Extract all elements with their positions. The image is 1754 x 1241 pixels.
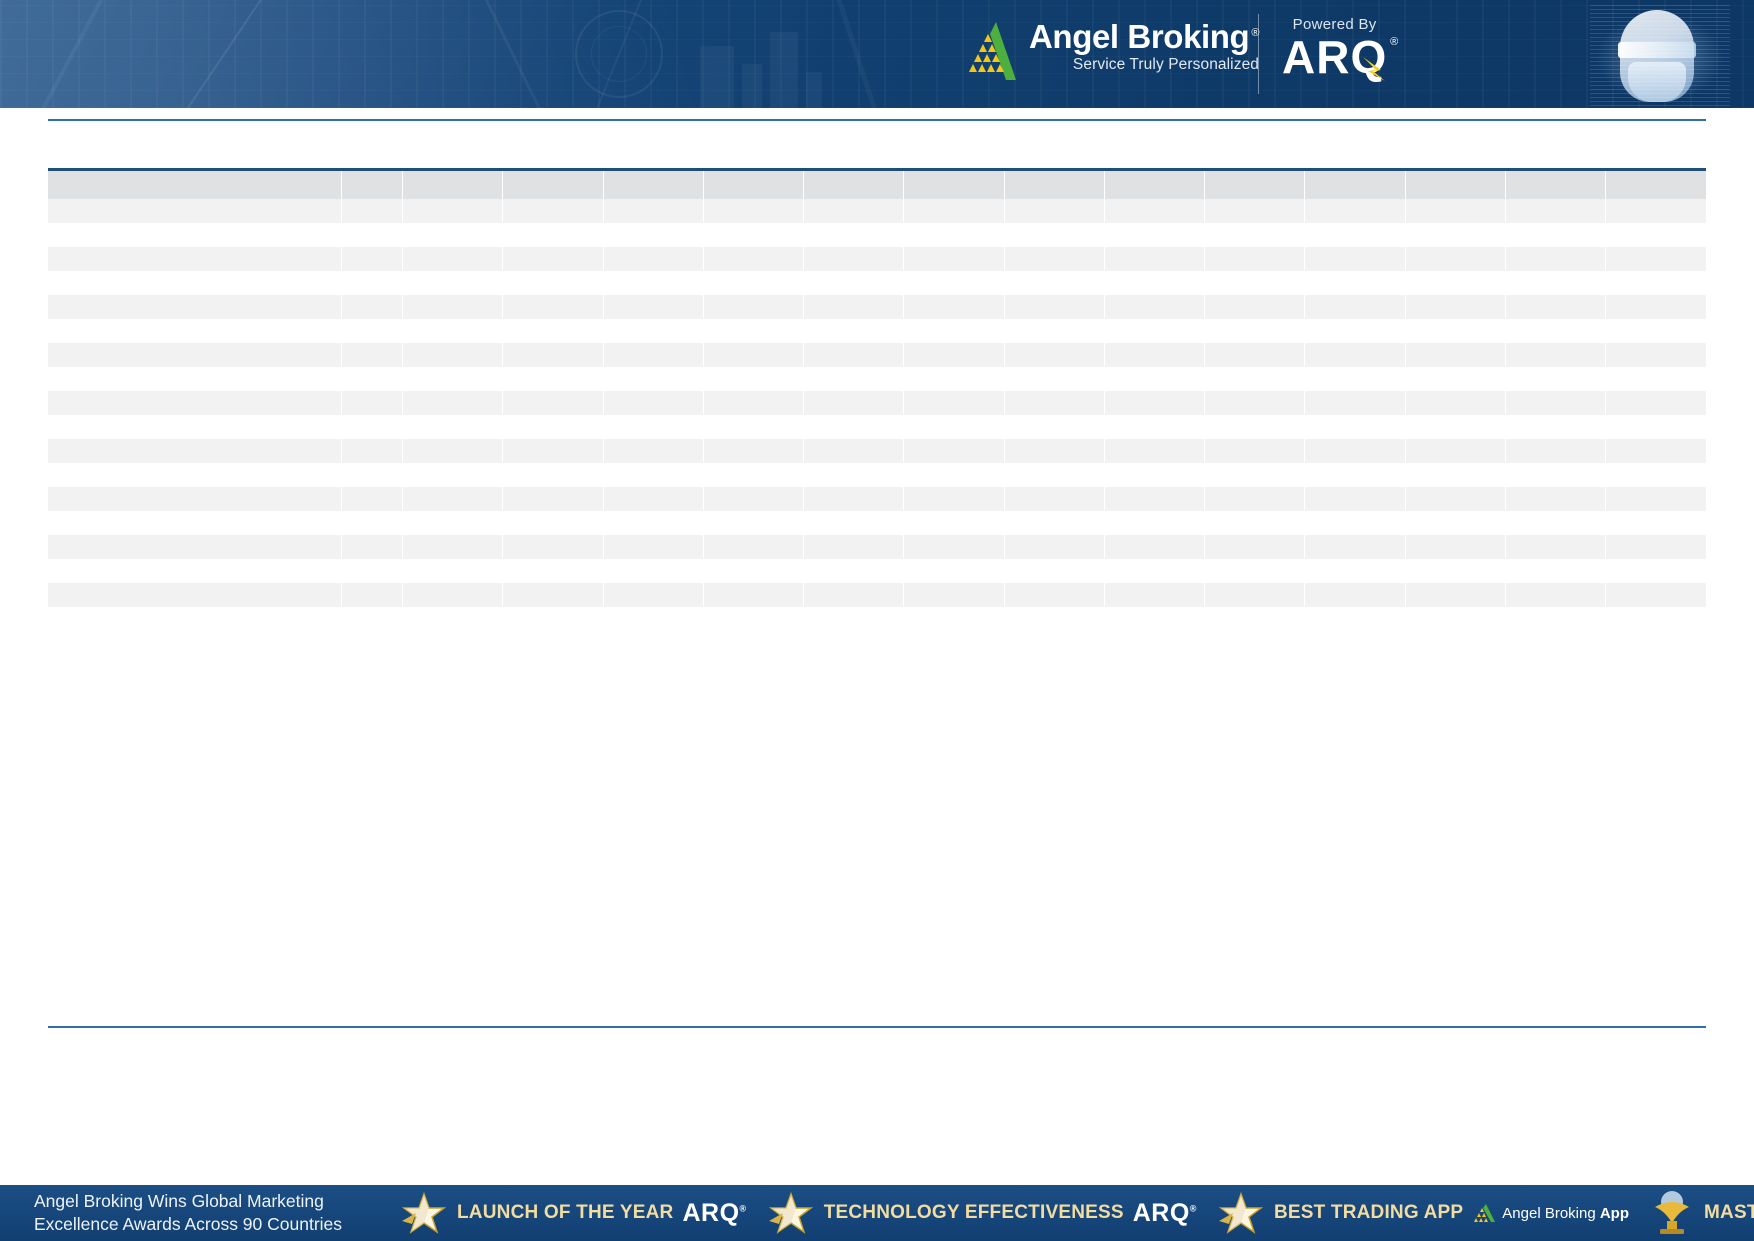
cell-c2 bbox=[402, 559, 502, 583]
cell-c12 bbox=[1405, 199, 1505, 223]
cell-c6 bbox=[804, 535, 904, 559]
cell-c3 bbox=[503, 415, 603, 439]
column-header-c2 bbox=[402, 171, 502, 199]
row-label bbox=[48, 415, 342, 439]
header-banner: Angel Broking® Service Truly Personalize… bbox=[0, 0, 1754, 108]
cell-c1 bbox=[342, 199, 403, 223]
cell-c10 bbox=[1205, 511, 1305, 535]
cell-c6 bbox=[804, 415, 904, 439]
cell-c12 bbox=[1405, 487, 1505, 511]
decor-streak bbox=[155, 0, 302, 108]
cell-c8 bbox=[1004, 223, 1104, 247]
cell-c4 bbox=[603, 439, 703, 463]
cell-c1 bbox=[342, 487, 403, 511]
cell-c14 bbox=[1606, 415, 1706, 439]
cell-c6 bbox=[804, 247, 904, 271]
table-row[interactable] bbox=[48, 535, 1706, 559]
cell-c6 bbox=[804, 271, 904, 295]
cell-c13 bbox=[1505, 511, 1605, 535]
award-title: BEST TRADING APP bbox=[1274, 1202, 1463, 1224]
cell-c9 bbox=[1104, 559, 1204, 583]
cell-c13 bbox=[1505, 535, 1605, 559]
cell-c3 bbox=[503, 295, 603, 319]
cell-c5 bbox=[703, 391, 803, 415]
cell-c14 bbox=[1606, 391, 1706, 415]
cell-c4 bbox=[603, 511, 703, 535]
row-label bbox=[48, 583, 342, 607]
cell-c12 bbox=[1405, 319, 1505, 343]
lightning-bolt-icon bbox=[1359, 53, 1389, 83]
cell-c10 bbox=[1205, 343, 1305, 367]
cell-c8 bbox=[1004, 343, 1104, 367]
cell-c12 bbox=[1405, 271, 1505, 295]
cell-c5 bbox=[703, 583, 803, 607]
table-row[interactable] bbox=[48, 463, 1706, 487]
table-bottom-rule bbox=[48, 1026, 1706, 1028]
cell-c12 bbox=[1405, 247, 1505, 271]
cell-c11 bbox=[1305, 511, 1405, 535]
column-header-c12 bbox=[1405, 171, 1505, 199]
cell-c6 bbox=[804, 439, 904, 463]
cell-c1 bbox=[342, 247, 403, 271]
cell-c9 bbox=[1104, 271, 1204, 295]
column-header-c5 bbox=[703, 171, 803, 199]
cell-c7 bbox=[904, 367, 1004, 391]
cell-c9 bbox=[1104, 463, 1204, 487]
cell-c9 bbox=[1104, 247, 1204, 271]
award-title: TECHNOLOGY EFFECTIVENESS bbox=[824, 1202, 1124, 1224]
cell-c10 bbox=[1205, 487, 1305, 511]
cell-c5 bbox=[703, 559, 803, 583]
report-title-block bbox=[48, 124, 1706, 166]
table-row[interactable] bbox=[48, 559, 1706, 583]
cell-c12 bbox=[1405, 463, 1505, 487]
table-row[interactable] bbox=[48, 319, 1706, 343]
angel-brand-name: Angel Broking bbox=[1502, 1205, 1600, 1222]
cell-c11 bbox=[1305, 367, 1405, 391]
cell-c8 bbox=[1004, 487, 1104, 511]
row-label bbox=[48, 199, 342, 223]
cell-c8 bbox=[1004, 271, 1104, 295]
cell-c7 bbox=[904, 511, 1004, 535]
cell-c7 bbox=[904, 223, 1004, 247]
cell-c12 bbox=[1405, 343, 1505, 367]
cell-c13 bbox=[1505, 247, 1605, 271]
cell-c2 bbox=[402, 583, 502, 607]
cell-c5 bbox=[703, 415, 803, 439]
cell-c12 bbox=[1405, 223, 1505, 247]
cell-c1 bbox=[342, 463, 403, 487]
cell-c7 bbox=[904, 295, 1004, 319]
arq-text: ARQ bbox=[682, 1199, 739, 1227]
cell-c1 bbox=[342, 319, 403, 343]
award-star-icon bbox=[400, 1191, 448, 1235]
cell-c11 bbox=[1305, 223, 1405, 247]
decor-bar bbox=[700, 46, 734, 108]
cell-c3 bbox=[503, 247, 603, 271]
cell-c11 bbox=[1305, 391, 1405, 415]
award-title: LAUNCH OF THE YEAR bbox=[457, 1202, 673, 1224]
decor-bar bbox=[770, 32, 798, 108]
report-page: Angel Broking® Service Truly Personalize… bbox=[0, 0, 1754, 1241]
cell-c7 bbox=[904, 439, 1004, 463]
cell-c7 bbox=[904, 247, 1004, 271]
cell-c5 bbox=[703, 271, 803, 295]
cell-c9 bbox=[1104, 583, 1204, 607]
cell-c13 bbox=[1505, 319, 1605, 343]
column-header-c14 bbox=[1606, 171, 1706, 199]
cell-c2 bbox=[402, 511, 502, 535]
cell-c4 bbox=[603, 415, 703, 439]
awards-headline: Angel Broking Wins Global Marketing Exce… bbox=[0, 1190, 390, 1236]
column-header-c11 bbox=[1305, 171, 1405, 199]
cell-c8 bbox=[1004, 535, 1104, 559]
cell-c10 bbox=[1205, 583, 1305, 607]
cell-c6 bbox=[804, 583, 904, 607]
awards-list: LAUNCH OF THE YEARARQ® TECHNOLOGY EFFECT… bbox=[390, 1185, 1754, 1241]
cell-c5 bbox=[703, 343, 803, 367]
cell-c13 bbox=[1505, 487, 1605, 511]
cell-c8 bbox=[1004, 367, 1104, 391]
table-row[interactable] bbox=[48, 391, 1706, 415]
cell-c10 bbox=[1205, 247, 1305, 271]
cell-c13 bbox=[1505, 559, 1605, 583]
cell-c3 bbox=[503, 487, 603, 511]
cell-c1 bbox=[342, 535, 403, 559]
cell-c11 bbox=[1305, 463, 1405, 487]
table-row[interactable] bbox=[48, 439, 1706, 463]
cell-c10 bbox=[1205, 271, 1305, 295]
cell-c13 bbox=[1505, 439, 1605, 463]
table-row[interactable] bbox=[48, 487, 1706, 511]
row-label bbox=[48, 391, 342, 415]
cell-c6 bbox=[804, 343, 904, 367]
table-row[interactable] bbox=[48, 223, 1706, 247]
cell-c11 bbox=[1305, 583, 1405, 607]
brand-tagline: Service Truly Personalized bbox=[1073, 56, 1259, 74]
cell-c3 bbox=[503, 223, 603, 247]
brand-angel-broking: Angel Broking® Service Truly Personalize… bbox=[966, 20, 1259, 82]
cell-c1 bbox=[342, 391, 403, 415]
cell-c9 bbox=[1104, 319, 1204, 343]
cell-c9 bbox=[1104, 487, 1204, 511]
registered-mark: ® bbox=[1390, 36, 1398, 48]
cell-c10 bbox=[1205, 439, 1305, 463]
table-row[interactable] bbox=[48, 199, 1706, 223]
cell-c10 bbox=[1205, 559, 1305, 583]
cell-c5 bbox=[703, 319, 803, 343]
cell-c14 bbox=[1606, 367, 1706, 391]
cell-c3 bbox=[503, 367, 603, 391]
cell-c14 bbox=[1606, 223, 1706, 247]
cell-c10 bbox=[1205, 463, 1305, 487]
cell-c12 bbox=[1405, 415, 1505, 439]
cell-c1 bbox=[342, 511, 403, 535]
column-header-c7 bbox=[904, 171, 1004, 199]
row-label bbox=[48, 367, 342, 391]
cell-c3 bbox=[503, 199, 603, 223]
title-rule bbox=[48, 119, 1706, 121]
table-row[interactable] bbox=[48, 343, 1706, 367]
table-row[interactable] bbox=[48, 415, 1706, 439]
cell-c13 bbox=[1505, 415, 1605, 439]
cell-c5 bbox=[703, 535, 803, 559]
row-label bbox=[48, 439, 342, 463]
cell-c7 bbox=[904, 535, 1004, 559]
cell-c12 bbox=[1405, 439, 1505, 463]
cell-c13 bbox=[1505, 367, 1605, 391]
cell-c14 bbox=[1606, 487, 1706, 511]
cell-c12 bbox=[1405, 511, 1505, 535]
arq-wordmark: ARQ® bbox=[682, 1199, 746, 1228]
cell-c7 bbox=[904, 559, 1004, 583]
cell-c14 bbox=[1606, 535, 1706, 559]
awards-footer-bar: Angel Broking Wins Global Marketing Exce… bbox=[0, 1185, 1754, 1241]
cell-c1 bbox=[342, 343, 403, 367]
cell-c11 bbox=[1305, 343, 1405, 367]
cell-c14 bbox=[1606, 295, 1706, 319]
table-row[interactable] bbox=[48, 271, 1706, 295]
angel-brand-suffix: App bbox=[1600, 1205, 1629, 1222]
data-table bbox=[48, 171, 1706, 607]
cell-c8 bbox=[1004, 439, 1104, 463]
column-header-c4 bbox=[603, 171, 703, 199]
cell-c9 bbox=[1104, 343, 1204, 367]
column-header-c3 bbox=[503, 171, 603, 199]
mascot-visor bbox=[1618, 42, 1696, 58]
cell-c14 bbox=[1606, 343, 1706, 367]
cell-c13 bbox=[1505, 271, 1605, 295]
cell-c4 bbox=[603, 319, 703, 343]
cell-c7 bbox=[904, 463, 1004, 487]
cell-c4 bbox=[603, 367, 703, 391]
table-header-row bbox=[48, 171, 1706, 199]
table-row[interactable] bbox=[48, 583, 1706, 607]
cell-c12 bbox=[1405, 391, 1505, 415]
cell-c2 bbox=[402, 415, 502, 439]
registered-mark: ® bbox=[740, 1203, 747, 1213]
cell-c2 bbox=[402, 319, 502, 343]
cell-c2 bbox=[402, 391, 502, 415]
row-label bbox=[48, 295, 342, 319]
cell-c6 bbox=[804, 559, 904, 583]
cell-c5 bbox=[703, 367, 803, 391]
cell-c11 bbox=[1305, 247, 1405, 271]
cell-c3 bbox=[503, 511, 603, 535]
cell-c14 bbox=[1606, 559, 1706, 583]
cell-c8 bbox=[1004, 391, 1104, 415]
cell-c3 bbox=[503, 343, 603, 367]
cell-c14 bbox=[1606, 511, 1706, 535]
cell-c6 bbox=[804, 295, 904, 319]
cell-c13 bbox=[1505, 223, 1605, 247]
column-header-c6 bbox=[804, 171, 904, 199]
arq-wordmark: ARQ® bbox=[1133, 1199, 1197, 1228]
decor-bar bbox=[742, 64, 762, 108]
registered-mark: ® bbox=[1190, 1203, 1197, 1213]
row-label bbox=[48, 463, 342, 487]
cell-c14 bbox=[1606, 583, 1706, 607]
award-badge-4: MASTER BRAND 2016 Angel Broking bbox=[1639, 1185, 1754, 1241]
cell-c10 bbox=[1205, 367, 1305, 391]
cell-c9 bbox=[1104, 535, 1204, 559]
cell-c2 bbox=[402, 487, 502, 511]
cell-c6 bbox=[804, 391, 904, 415]
cell-c10 bbox=[1205, 223, 1305, 247]
angel-broking-lockup: Angel Broking App bbox=[1472, 1203, 1629, 1223]
cell-c8 bbox=[1004, 295, 1104, 319]
cell-c13 bbox=[1505, 463, 1605, 487]
cell-c11 bbox=[1305, 487, 1405, 511]
cell-c1 bbox=[342, 367, 403, 391]
award-star-icon bbox=[1217, 1191, 1265, 1235]
cell-c7 bbox=[904, 391, 1004, 415]
robot-head-icon bbox=[1590, 4, 1730, 106]
cell-c11 bbox=[1305, 439, 1405, 463]
cell-c3 bbox=[503, 271, 603, 295]
cell-c7 bbox=[904, 319, 1004, 343]
cell-c2 bbox=[402, 247, 502, 271]
award-trophy-icon bbox=[1649, 1189, 1695, 1237]
cell-c14 bbox=[1606, 319, 1706, 343]
row-label bbox=[48, 487, 342, 511]
cell-c4 bbox=[603, 583, 703, 607]
brand-name: Angel Broking® bbox=[1029, 20, 1259, 53]
table-row[interactable] bbox=[48, 247, 1706, 271]
row-label bbox=[48, 559, 342, 583]
angel-triangle-icon bbox=[966, 20, 1018, 82]
cell-c1 bbox=[342, 295, 403, 319]
decor-streak bbox=[470, 0, 569, 108]
cell-c2 bbox=[402, 199, 502, 223]
column-header-c10 bbox=[1205, 171, 1305, 199]
award-title: MASTER BRAND 2016 bbox=[1704, 1202, 1754, 1224]
cell-c7 bbox=[904, 583, 1004, 607]
arq-wordmark: ARQ ® bbox=[1282, 34, 1387, 80]
cell-c2 bbox=[402, 271, 502, 295]
cell-c2 bbox=[402, 439, 502, 463]
cell-c2 bbox=[402, 223, 502, 247]
award-badge-1: LAUNCH OF THE YEARARQ® bbox=[390, 1185, 757, 1241]
cell-c11 bbox=[1305, 319, 1405, 343]
cell-c6 bbox=[804, 199, 904, 223]
cell-c12 bbox=[1405, 367, 1505, 391]
cell-c2 bbox=[402, 343, 502, 367]
cell-c5 bbox=[703, 439, 803, 463]
cell-c4 bbox=[603, 559, 703, 583]
decor-streak bbox=[12, 0, 124, 108]
cell-c11 bbox=[1305, 535, 1405, 559]
column-header-c1 bbox=[342, 171, 403, 199]
cell-c14 bbox=[1606, 463, 1706, 487]
cell-c6 bbox=[804, 319, 904, 343]
cell-c4 bbox=[603, 487, 703, 511]
table-row[interactable] bbox=[48, 295, 1706, 319]
cell-c9 bbox=[1104, 199, 1204, 223]
cell-c6 bbox=[804, 511, 904, 535]
cell-c4 bbox=[603, 271, 703, 295]
cell-c12 bbox=[1405, 535, 1505, 559]
cell-c4 bbox=[603, 463, 703, 487]
cell-c1 bbox=[342, 271, 403, 295]
cell-c12 bbox=[1405, 583, 1505, 607]
row-label bbox=[48, 511, 342, 535]
cell-c14 bbox=[1606, 247, 1706, 271]
cell-c4 bbox=[603, 295, 703, 319]
cell-c2 bbox=[402, 463, 502, 487]
column-header-label bbox=[48, 171, 342, 199]
angel-wordmark: Angel Broking® Service Truly Personalize… bbox=[1029, 20, 1259, 74]
cell-c13 bbox=[1505, 391, 1605, 415]
cell-c4 bbox=[603, 199, 703, 223]
cell-c6 bbox=[804, 223, 904, 247]
award-badge-3: BEST TRADING APP Angel Broking App bbox=[1207, 1185, 1639, 1241]
cell-c5 bbox=[703, 223, 803, 247]
cell-c14 bbox=[1606, 199, 1706, 223]
cell-c9 bbox=[1104, 415, 1204, 439]
cell-c11 bbox=[1305, 271, 1405, 295]
cell-c8 bbox=[1004, 559, 1104, 583]
row-label bbox=[48, 223, 342, 247]
cell-c11 bbox=[1305, 295, 1405, 319]
cell-c5 bbox=[703, 295, 803, 319]
cell-c4 bbox=[603, 223, 703, 247]
cell-c7 bbox=[904, 199, 1004, 223]
cell-c13 bbox=[1505, 583, 1605, 607]
cell-c12 bbox=[1405, 559, 1505, 583]
cell-c12 bbox=[1405, 295, 1505, 319]
cell-c8 bbox=[1004, 511, 1104, 535]
cell-c3 bbox=[503, 559, 603, 583]
cell-c11 bbox=[1305, 559, 1405, 583]
cell-c10 bbox=[1205, 295, 1305, 319]
cell-c5 bbox=[703, 463, 803, 487]
cell-c9 bbox=[1104, 367, 1204, 391]
cell-c6 bbox=[804, 463, 904, 487]
column-header-c13 bbox=[1505, 171, 1605, 199]
cell-c5 bbox=[703, 487, 803, 511]
brand-arq: Powered By ARQ ® bbox=[1282, 16, 1387, 80]
angel-brand-text: Angel Broking App bbox=[1502, 1205, 1629, 1222]
cell-c14 bbox=[1606, 439, 1706, 463]
award-badge-2: TECHNOLOGY EFFECTIVENESSARQ® bbox=[757, 1185, 1207, 1241]
arq-text: ARQ bbox=[1133, 1199, 1190, 1227]
cell-c7 bbox=[904, 343, 1004, 367]
cell-c11 bbox=[1305, 415, 1405, 439]
cell-c10 bbox=[1205, 199, 1305, 223]
cell-c13 bbox=[1505, 295, 1605, 319]
row-label bbox=[48, 271, 342, 295]
row-label bbox=[48, 343, 342, 367]
cell-c10 bbox=[1205, 319, 1305, 343]
cell-c4 bbox=[603, 343, 703, 367]
cell-c3 bbox=[503, 439, 603, 463]
cell-c1 bbox=[342, 415, 403, 439]
cell-c8 bbox=[1004, 583, 1104, 607]
cell-c2 bbox=[402, 295, 502, 319]
cell-c2 bbox=[402, 367, 502, 391]
cell-c9 bbox=[1104, 295, 1204, 319]
cell-c1 bbox=[342, 439, 403, 463]
cell-c5 bbox=[703, 511, 803, 535]
cell-c4 bbox=[603, 247, 703, 271]
table-row[interactable] bbox=[48, 367, 1706, 391]
cell-c3 bbox=[503, 535, 603, 559]
report-content bbox=[0, 108, 1754, 1185]
cell-c10 bbox=[1205, 391, 1305, 415]
table-row[interactable] bbox=[48, 511, 1706, 535]
cell-c13 bbox=[1505, 343, 1605, 367]
